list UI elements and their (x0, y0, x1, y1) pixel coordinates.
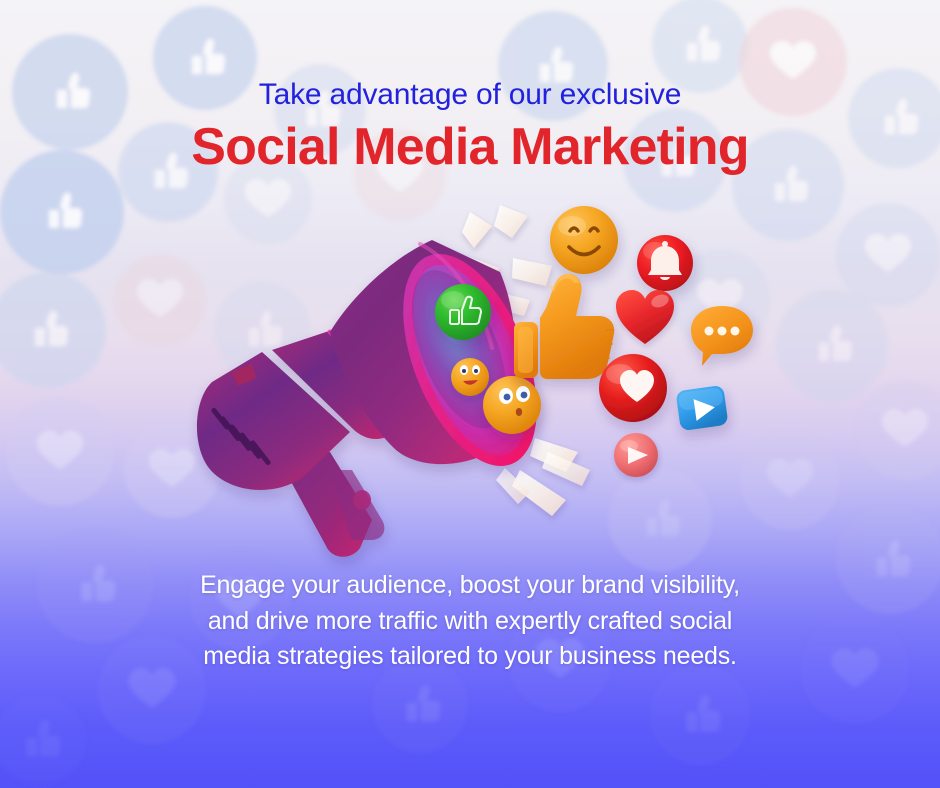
body-line-3: media strategies tailored to your busine… (0, 639, 940, 675)
body-line-2: and drive more traffic with expertly cra… (0, 604, 940, 640)
headline-kicker: Take advantage of our exclusive (0, 78, 940, 111)
thumbs-up-orange (514, 274, 614, 379)
promo-banner: Take advantage of our exclusive Social M… (0, 0, 940, 788)
body-line-1: Engage your audience, boost your brand v… (0, 568, 940, 604)
page-title: Social Media Marketing (0, 119, 940, 175)
chat-bubble-orange (691, 306, 753, 366)
bell-notification (637, 235, 693, 291)
emoji-laughing-ball (451, 358, 489, 396)
thumbs-up-sphere-green (435, 284, 491, 340)
emoji-smiley-ball (550, 206, 618, 274)
body-copy: Engage your audience, boost your brand v… (0, 568, 940, 675)
play-button-blue (675, 385, 728, 431)
headline-block: Take advantage of our exclusive Social M… (0, 78, 940, 175)
heart-circle-red (599, 354, 667, 422)
heart-red (616, 290, 674, 344)
emoji-surprised-ball (483, 376, 541, 434)
play-circle-pink (614, 433, 658, 477)
